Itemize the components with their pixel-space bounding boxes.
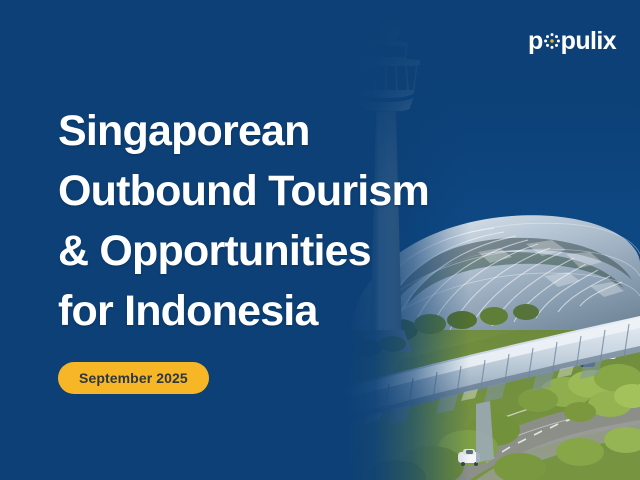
date-badge: September 2025 (58, 362, 209, 394)
title-slide: p pulix Singaporean Outbound Tourism & O… (0, 0, 640, 480)
logo-prefix: p (528, 28, 543, 54)
dotted-o-mark-icon (543, 32, 561, 50)
page-title: Singaporean Outbound Tourism & Opportuni… (58, 101, 478, 341)
populix-logo: p pulix (528, 28, 616, 54)
logo-suffix: pulix (561, 28, 616, 54)
